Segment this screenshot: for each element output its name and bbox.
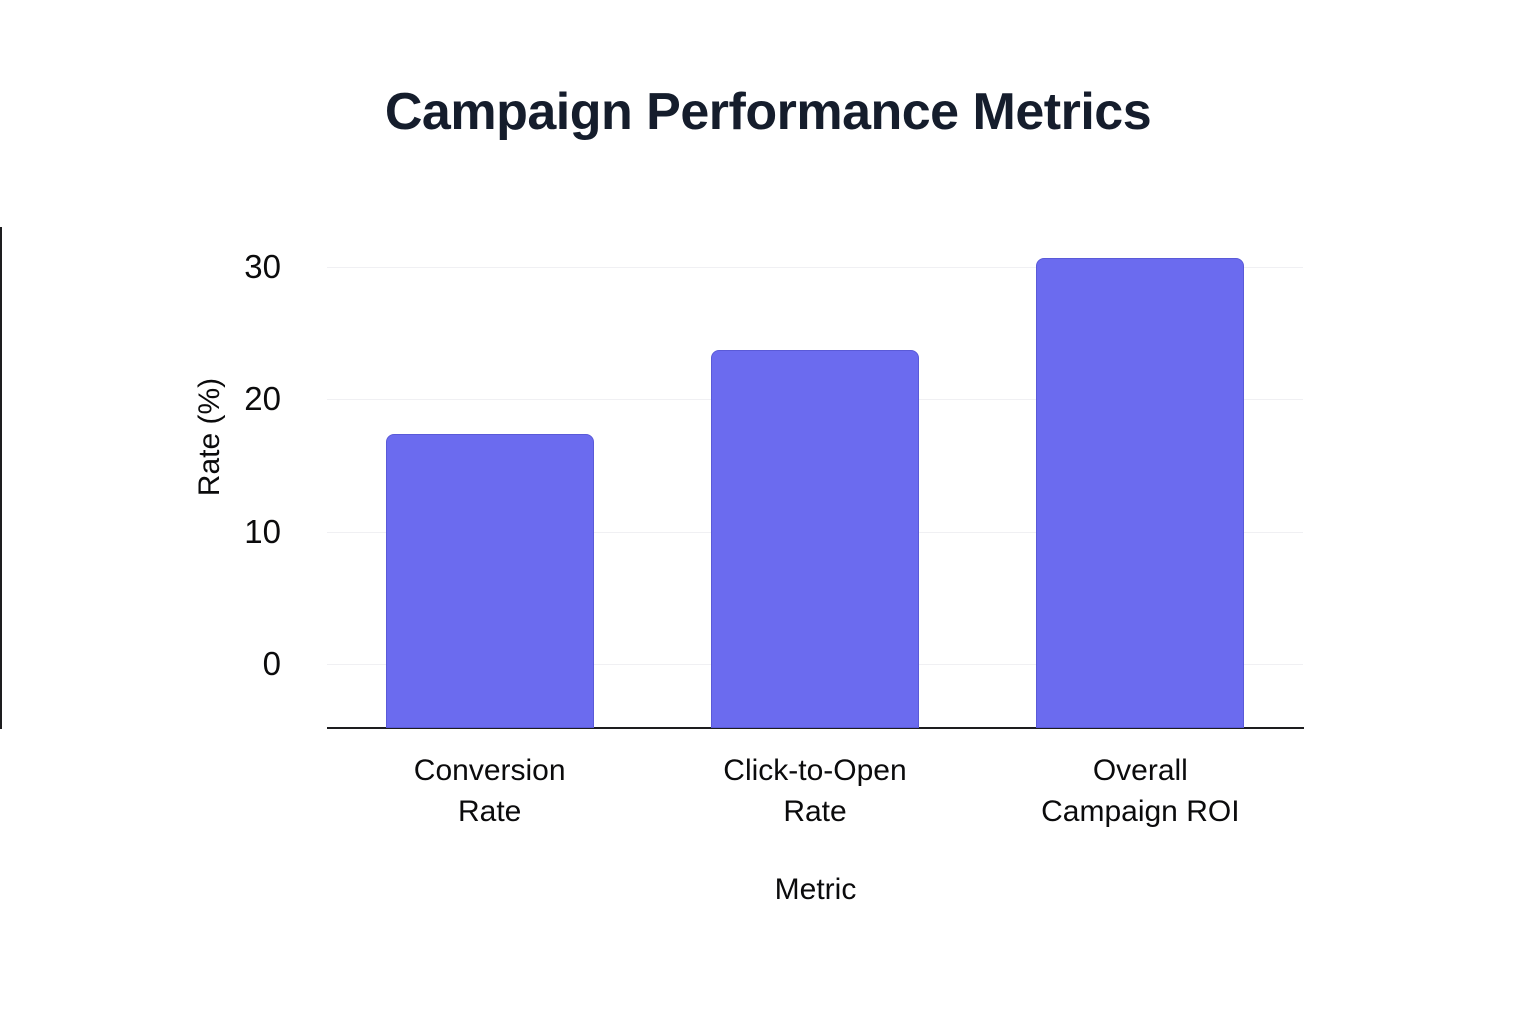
- plot-area: [327, 227, 1303, 728]
- y-axis-title: Rate (%): [193, 367, 227, 507]
- y-tick-label: 10: [161, 515, 281, 548]
- bar[interactable]: [1036, 258, 1244, 728]
- bar[interactable]: [711, 350, 919, 728]
- y-tick-label: 30: [161, 250, 281, 283]
- bar[interactable]: [386, 434, 594, 728]
- x-tick-label: Click-to-Open Rate: [645, 750, 985, 832]
- bar-chart: Campaign Performance Metrics 0102030 Con…: [0, 0, 1536, 1024]
- x-tick-label: Conversion Rate: [320, 750, 660, 832]
- chart-title: Campaign Performance Metrics: [0, 82, 1536, 142]
- y-axis-spine: [0, 227, 2, 729]
- x-axis-title: Metric: [327, 873, 1304, 907]
- y-tick-label: 0: [161, 647, 281, 680]
- x-tick-label: Overall Campaign ROI: [970, 750, 1310, 832]
